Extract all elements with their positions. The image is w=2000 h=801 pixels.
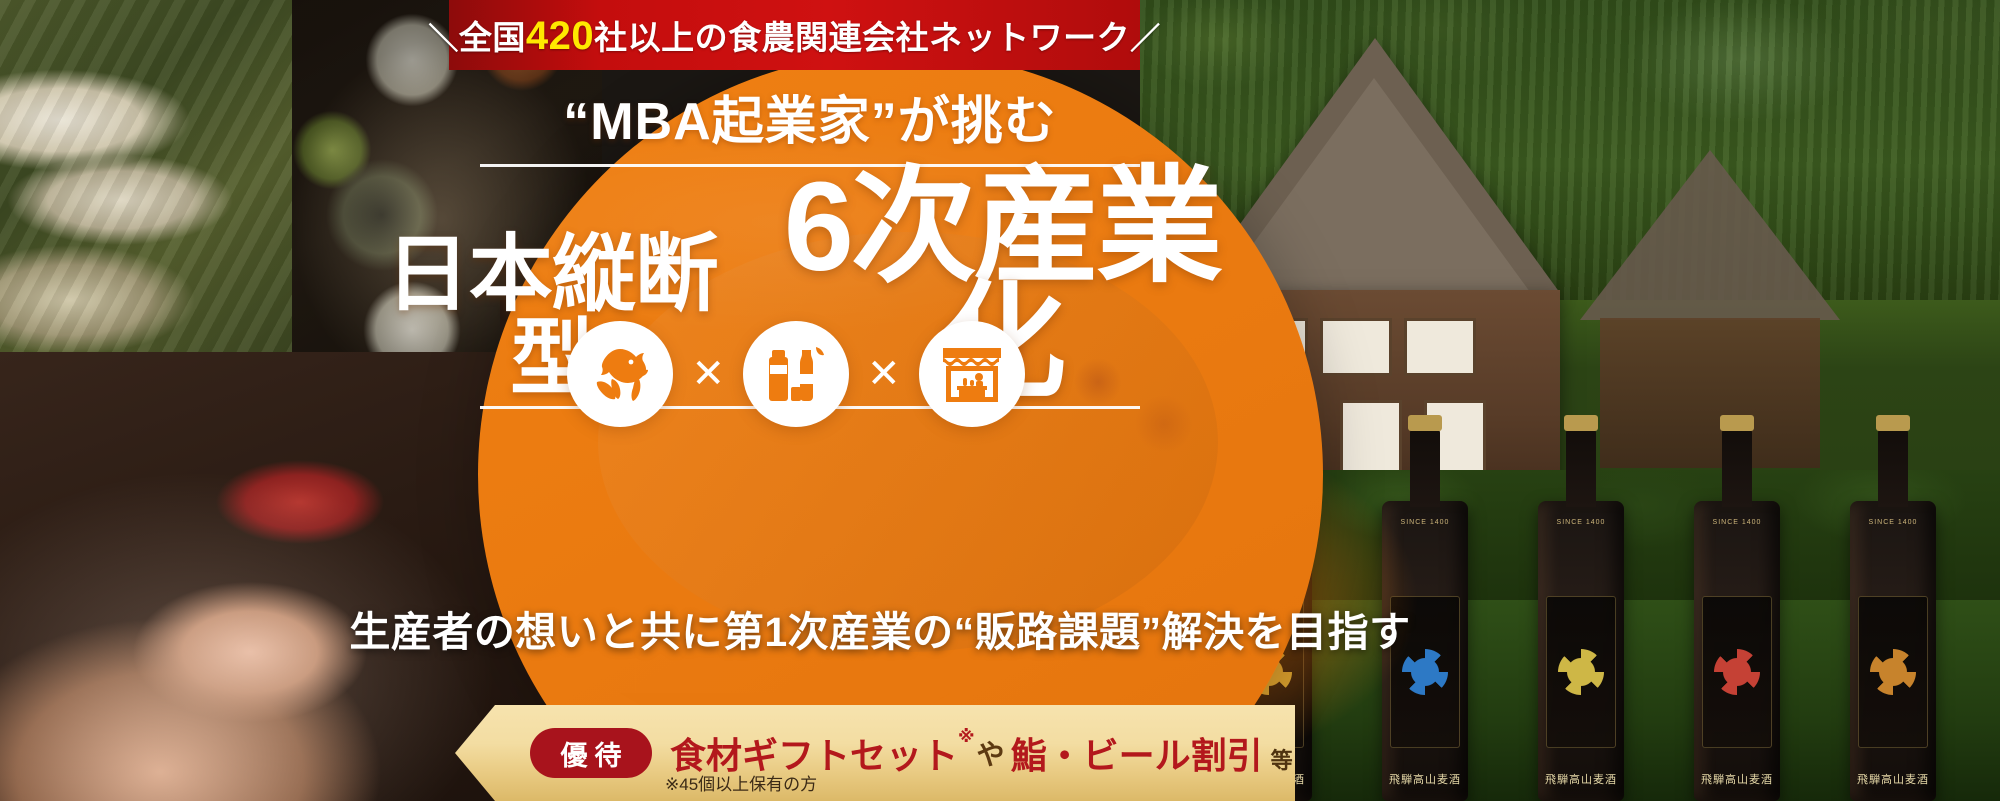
network-banner-count: 420 <box>526 14 594 58</box>
slash-open: ＼ <box>428 23 459 56</box>
bottle-cap <box>1876 415 1910 431</box>
benefit-ribbon: 優待 食材ギフトセット※や鮨・ビール割引等 ※45個以上保有の方 <box>455 705 1295 801</box>
bottle-brand-small: SINCE 1400 <box>1382 519 1468 526</box>
network-banner-pre: 全国 <box>459 19 526 56</box>
window <box>1404 318 1476 376</box>
multiply-icon: ✕ <box>867 354 901 394</box>
bottle-6: SINCE 1400 飛騨高山麦酒 <box>1850 501 1936 801</box>
brand-crest-icon <box>1558 649 1604 695</box>
brand-crest-icon <box>1714 649 1760 695</box>
bottle-5: SINCE 1400 飛騨高山麦酒 <box>1694 501 1780 801</box>
fish-and-vegetables-icon <box>567 321 673 427</box>
benefit-text-second: 鮨・ビール割引 <box>1011 727 1263 779</box>
promo-banner: SINCE 1400 飛騨高山麦酒 SINCE 1400 飛騨高山麦酒 SINC… <box>0 0 2000 801</box>
bottle-4: SINCE 1400 飛騨高山麦酒 <box>1538 501 1624 801</box>
window <box>1320 318 1392 376</box>
bottle-neck <box>1410 427 1440 507</box>
bottle-label <box>1546 596 1616 748</box>
benefit-conjunction: や <box>977 733 1005 773</box>
benefit-ribbon-inner: 優待 食材ギフトセット※や鮨・ビール割引等 ※45個以上保有の方 <box>455 705 1295 801</box>
multiply-icon: ✕ <box>691 354 725 394</box>
bottle-cap <box>1408 415 1442 431</box>
bottle-label <box>1858 596 1928 748</box>
bottle-brand-main: 飛騨高山麦酒 <box>1850 771 1936 787</box>
bottle-neck <box>1878 427 1908 507</box>
bottle-neck <box>1722 427 1752 507</box>
bottle-cap <box>1720 415 1754 431</box>
bottle-label <box>1702 596 1772 748</box>
bottle-brand-small: SINCE 1400 <box>1850 519 1936 526</box>
network-banner-text: ＼全国420社以上の食農関連会社ネットワーク／ <box>428 11 1160 59</box>
bottle-brand-small: SINCE 1400 <box>1538 519 1624 526</box>
benefit-etc: 等 <box>1271 743 1293 775</box>
slash-close: ／ <box>1130 23 1161 56</box>
bottle-neck <box>1566 427 1596 507</box>
bottle-cap <box>1564 415 1598 431</box>
bottles-processing-icon <box>743 321 849 427</box>
benefit-asterisk: ※ <box>958 727 975 747</box>
storefront-icon <box>919 321 1025 427</box>
benefit-note: ※45個以上保有の方 <box>665 770 817 795</box>
network-banner: ＼全国420社以上の食農関連会社ネットワーク／ <box>449 0 1140 70</box>
industry-icon-row: ✕ ✕ <box>536 318 1056 430</box>
ribbon-top-accent <box>620 693 950 707</box>
bottle-brand-main: 飛騨高山麦酒 <box>1694 771 1780 787</box>
tagline: 生産者の想いと共に第1次産業の“販路課題”解決を目指す <box>230 598 1530 658</box>
headline-subtitle: “MBA起業家”が挑む <box>360 95 1260 150</box>
network-banner-post: 社以上の食農関連会社ネットワーク <box>594 19 1130 56</box>
benefit-badge: 優待 <box>530 728 652 778</box>
brand-crest-icon <box>1870 649 1916 695</box>
bottle-brand-main: 飛騨高山麦酒 <box>1538 771 1624 787</box>
roof-shape-right <box>1580 150 1840 320</box>
bottle-brand-small: SINCE 1400 <box>1694 519 1780 526</box>
bottle-brand-main: 飛騨高山麦酒 <box>1382 771 1468 787</box>
